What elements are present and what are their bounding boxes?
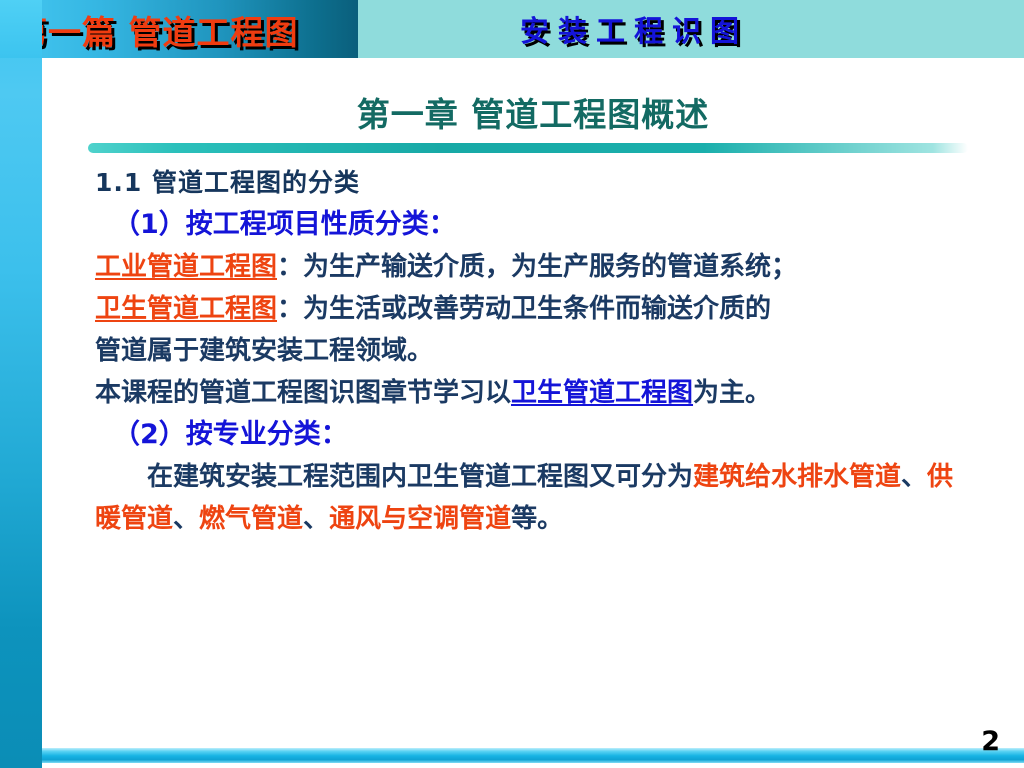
- course-note-suffix: 为主。: [693, 378, 771, 408]
- category-ventilation-ac-pipeline: 通风与空调管道: [329, 504, 511, 534]
- slide-body: 1.1 管道工程图的分类 （1）按工程项目性质分类： 工业管道工程图：为生产输送…: [95, 162, 975, 540]
- sanitary-colon: ：: [277, 294, 303, 324]
- list-item-2-label: （2）按专业分类：: [113, 414, 975, 456]
- industrial-description: 为生产输送介质，为生产服务的管道系统；: [303, 252, 797, 282]
- chapter-title: 第一章 管道工程图概述: [42, 88, 1024, 136]
- left-accent-band-top: [0, 0, 42, 58]
- course-note-line: 本课程的管道工程图识图章节学习以卫生管道工程图为主。: [95, 372, 975, 414]
- left-accent-band: [0, 0, 42, 768]
- industrial-colon: ：: [277, 252, 303, 282]
- scope-suffix: 等。: [511, 504, 563, 534]
- slide-header: 第一篇 管道工程图 安装工程识图: [0, 0, 1024, 58]
- scope-paragraph: 在建筑安装工程范围内卫生管道工程图又可分为建筑给水排水管道、供暖管道、燃气管道、…: [95, 456, 975, 540]
- industrial-pipeline-line: 工业管道工程图：为生产输送介质，为生产服务的管道系统；: [95, 246, 975, 288]
- sanitary-description-line-1: 为生活或改善劳动卫生条件而输送介质的: [303, 294, 771, 324]
- sanitary-term: 卫生管道工程图: [95, 294, 277, 324]
- slide-canvas: 第一篇 管道工程图 安装工程识图 第一章 管道工程图概述 1.1 管道工程图的分…: [0, 0, 1024, 768]
- course-note-prefix: 本课程的管道工程图识图章节学习以: [95, 378, 511, 408]
- header-course-title: 安装工程识图: [520, 8, 748, 50]
- course-note-emphasis: 卫生管道工程图: [511, 378, 693, 408]
- list-item-1-label: （1）按工程项目性质分类：: [113, 204, 975, 246]
- sanitary-pipeline-line-2: 管道属于建筑安装工程领域。: [95, 330, 975, 372]
- footer-accent-bar: [42, 748, 1024, 763]
- section-heading-1-1: 1.1 管道工程图的分类: [95, 162, 975, 204]
- scope-prefix: 在建筑安装工程范围内卫生管道工程图又可分为: [147, 462, 693, 492]
- scope-separator-1: 、: [901, 462, 927, 492]
- category-gas-pipeline: 燃气管道: [199, 504, 303, 534]
- scope-separator-2: 、: [173, 504, 199, 534]
- title-divider-rule: [88, 143, 968, 153]
- sanitary-pipeline-line-1: 卫生管道工程图：为生活或改善劳动卫生条件而输送介质的: [95, 288, 975, 330]
- scope-separator-3: 、: [303, 504, 329, 534]
- industrial-term: 工业管道工程图: [95, 252, 277, 282]
- category-building-water-supply-drainage: 建筑给水排水管道: [693, 462, 901, 492]
- page-number: 2: [981, 726, 1000, 757]
- header-part-title: 第一篇 管道工程图: [14, 6, 299, 54]
